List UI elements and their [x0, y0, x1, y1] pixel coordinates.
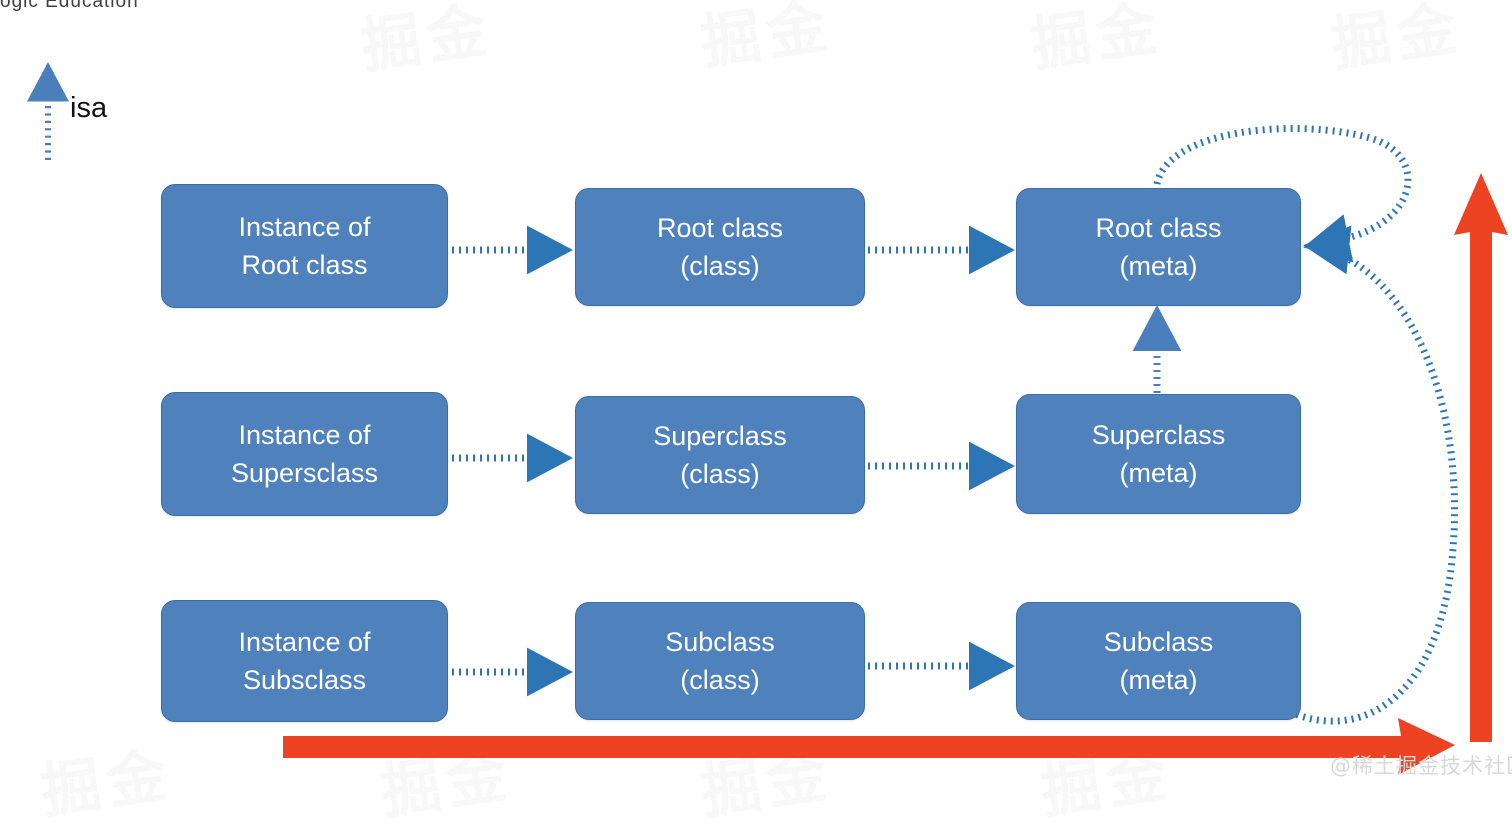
background-watermark-art: 掘金 — [1025, 0, 1168, 84]
node-line-2: Root class — [241, 246, 367, 284]
background-watermark-art: 掘金 — [1325, 0, 1468, 84]
node-line-1: Instance of — [238, 208, 370, 246]
background-watermark-art: 掘金 — [695, 726, 838, 831]
node-line-2: Subsclass — [243, 661, 366, 699]
source-watermark: @稀土掘金技术社区 — [1330, 750, 1512, 780]
page-title: ogic Education — [0, 0, 139, 13]
node-line-2: (meta) — [1119, 661, 1197, 699]
inherit-vertical-arrow — [1454, 173, 1508, 742]
node-line-1: Root class — [1095, 209, 1221, 247]
node-line-1: Root class — [657, 209, 783, 247]
node-line-1: Superclass — [653, 417, 787, 455]
node-instance-superclass[interactable]: Instance of Supersclass — [161, 392, 448, 516]
node-line-1: Instance of — [238, 623, 370, 661]
node-line-1: Instance of — [238, 416, 370, 454]
isa-legend-label: isa — [70, 92, 107, 125]
background-watermark-art: 掘金 — [355, 0, 498, 86]
node-line-1: Subclass — [665, 623, 775, 661]
diagram-canvas: 掘金 掘金 掘金 掘金 掘金 掘金 掘金 掘金 ogic Education — [0, 0, 1512, 797]
node-subclass-meta[interactable]: Subclass (meta) — [1016, 602, 1301, 720]
background-watermark-art: 掘金 — [375, 726, 518, 831]
edge-isa-sub-meta-to-root-meta — [1290, 246, 1455, 721]
node-line-2: (meta) — [1119, 247, 1197, 285]
node-line-2: (class) — [680, 247, 760, 285]
node-superclass-class[interactable]: Superclass (class) — [575, 396, 865, 514]
node-instance-root[interactable]: Instance of Root class — [161, 184, 448, 308]
node-line-1: Superclass — [1092, 416, 1226, 454]
background-watermark-art: 掘金 — [35, 726, 178, 831]
inherit-horizontal-arrow — [283, 718, 1455, 775]
node-line-2: (class) — [680, 455, 760, 493]
background-watermark-art: 掘金 — [695, 0, 838, 82]
background-watermark-art: 掘金 — [1035, 726, 1178, 831]
node-superclass-meta[interactable]: Superclass (meta) — [1016, 394, 1301, 514]
node-root-meta[interactable]: Root class (meta) — [1016, 188, 1301, 306]
node-line-1: Subclass — [1104, 623, 1214, 661]
node-line-2: (meta) — [1119, 454, 1197, 492]
node-instance-subclass[interactable]: Instance of Subsclass — [161, 600, 448, 722]
node-root-class[interactable]: Root class (class) — [575, 188, 865, 306]
node-subclass-class[interactable]: Subclass (class) — [575, 602, 865, 720]
node-line-2: (class) — [680, 661, 760, 699]
node-line-2: Supersclass — [231, 454, 378, 492]
